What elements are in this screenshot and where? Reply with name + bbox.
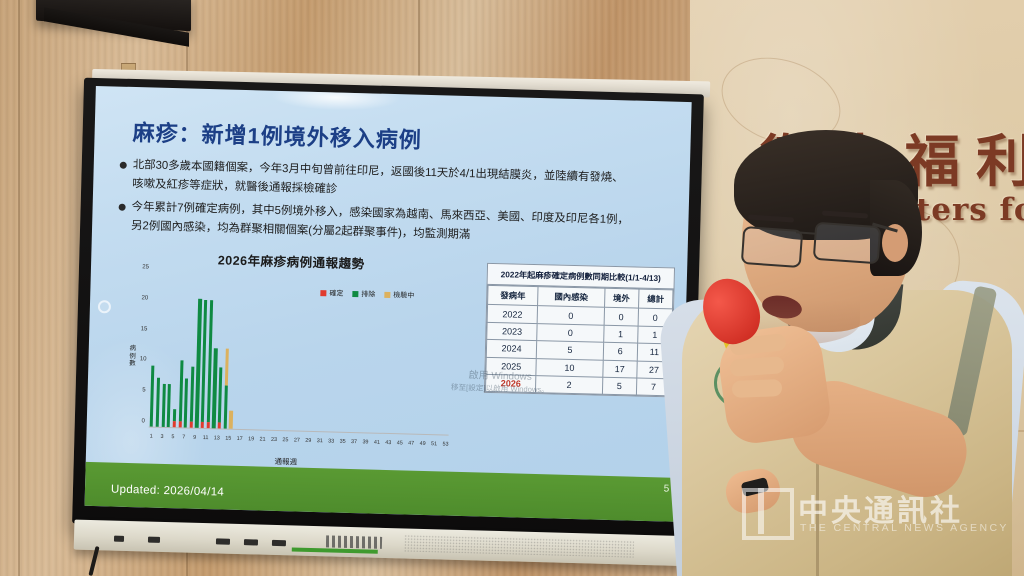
chart-bar bbox=[229, 410, 233, 428]
screenshot-root: 衛生福利 Centers fo 麻疹：新增1例境外移入病例 北部30多歲本國籍個… bbox=[0, 0, 1024, 576]
port bbox=[114, 536, 124, 542]
chart-y-tick-label: 10 bbox=[140, 357, 147, 363]
bullet-dot-icon bbox=[120, 162, 127, 169]
table-cell: 0 bbox=[537, 323, 604, 342]
slide-title: 麻疹：新增1例境外移入病例 bbox=[132, 115, 422, 155]
chart-y-tick-label: 25 bbox=[142, 264, 149, 270]
table-cell: 2024 bbox=[486, 339, 537, 358]
slide-bullet-list: 北部30多歲本國籍個案，今年3月中旬曾前往印尼，返國後11天於4/1出現結膜炎，… bbox=[118, 157, 680, 249]
chart-bars bbox=[149, 274, 453, 435]
port bbox=[148, 537, 160, 543]
table-cell: 2023 bbox=[487, 322, 538, 341]
speaker-grill bbox=[404, 534, 634, 557]
speaker-person bbox=[630, 150, 1024, 576]
chart-bar-segment bbox=[173, 409, 177, 421]
brand-logo bbox=[326, 535, 382, 549]
chart-plot-area: 0510152025 bbox=[149, 274, 453, 436]
chart-x-ticks: 1357911131517192123252729313335373941434… bbox=[148, 434, 448, 448]
port bbox=[216, 538, 230, 544]
table-cell: 0 bbox=[537, 306, 604, 325]
wall-seam bbox=[18, 0, 20, 576]
chart-title: 2026年麻疹病例通報趨勢 bbox=[111, 246, 471, 275]
port bbox=[244, 539, 258, 545]
table-cell: 10 bbox=[536, 358, 603, 377]
table-cell: 2026 bbox=[485, 374, 536, 393]
chart-bar bbox=[173, 409, 177, 427]
table-cell: 2022 bbox=[487, 305, 538, 324]
chart-y-tick-label: 5 bbox=[142, 388, 146, 394]
eyeglasses-lens-left bbox=[741, 226, 804, 268]
chart-y-axis-label: 病例數 bbox=[126, 345, 139, 368]
chart-x-tick-label: 53 bbox=[442, 441, 448, 447]
chart-y-tick-label: 20 bbox=[141, 295, 148, 301]
table-column-header: 國內感染 bbox=[538, 287, 605, 308]
chart-y-tick-label: 15 bbox=[141, 326, 148, 332]
chart-y-tick-label: 0 bbox=[141, 418, 145, 424]
measles-trend-chart: 2026年麻疹病例通報趨勢 病例數 確定排除檢驗中 0510152025 135… bbox=[105, 246, 471, 486]
table-cell: 2 bbox=[536, 375, 603, 394]
eyeglasses-lens-right bbox=[813, 222, 881, 265]
bullet-dot-icon bbox=[119, 204, 126, 211]
table-cell: 5 bbox=[537, 341, 604, 360]
chart-bar-segment bbox=[229, 410, 233, 428]
presentation-display[interactable]: 麻疹：新增1例境外移入病例 北部30多歲本國籍個案，今年3月中旬曾前往印尼，返國… bbox=[72, 74, 708, 543]
finger bbox=[732, 379, 783, 398]
port bbox=[272, 540, 286, 546]
display-screen[interactable]: 麻疹：新增1例境外移入病例 北部30多歲本國籍個案，今年3月中旬曾前往印尼，返國… bbox=[85, 86, 692, 522]
table-column-header: 發病年 bbox=[488, 285, 539, 306]
table-cell: 2025 bbox=[486, 357, 537, 376]
